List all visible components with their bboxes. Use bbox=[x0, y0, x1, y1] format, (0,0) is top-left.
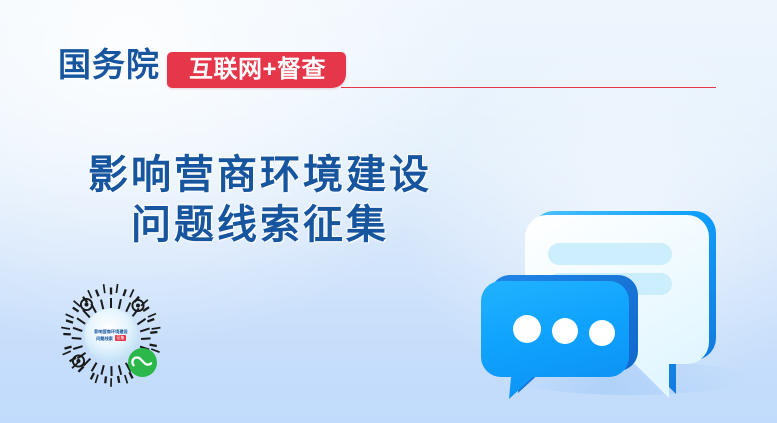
main-title: 影响营商环境建设 问题线索征集 bbox=[0, 150, 520, 250]
wechat-miniprogram-qr-code[interactable]: 影响营商环境建设 问题线索 征集 bbox=[52, 278, 170, 396]
title-line-1: 影响营商环境建设 bbox=[0, 150, 520, 200]
internet-plus-supervision-badge[interactable]: 互联网+督查 bbox=[167, 52, 346, 88]
title-line-2: 问题线索征集 bbox=[0, 200, 520, 250]
qr-code-icon bbox=[52, 278, 170, 396]
typing-dot-3 bbox=[589, 320, 615, 346]
badge-label: 互联网+督查 bbox=[189, 58, 326, 82]
qr-center-disc bbox=[85, 309, 138, 362]
typing-dot-2 bbox=[552, 318, 578, 344]
banner-header: 国务院 互联网+督查 bbox=[0, 22, 777, 74]
state-council-logo: 国务院 bbox=[58, 48, 160, 81]
back-bubble-text-line-1 bbox=[548, 243, 672, 265]
promo-banner: 国务院 互联网+督查 影响营商环境建设 问题线索征集 bbox=[0, 0, 777, 423]
chat-bubbles-illustration bbox=[455, 180, 777, 423]
typing-dot-1 bbox=[513, 315, 541, 343]
header-divider-rule bbox=[341, 87, 716, 88]
wechat-miniprogram-logo bbox=[128, 348, 157, 377]
